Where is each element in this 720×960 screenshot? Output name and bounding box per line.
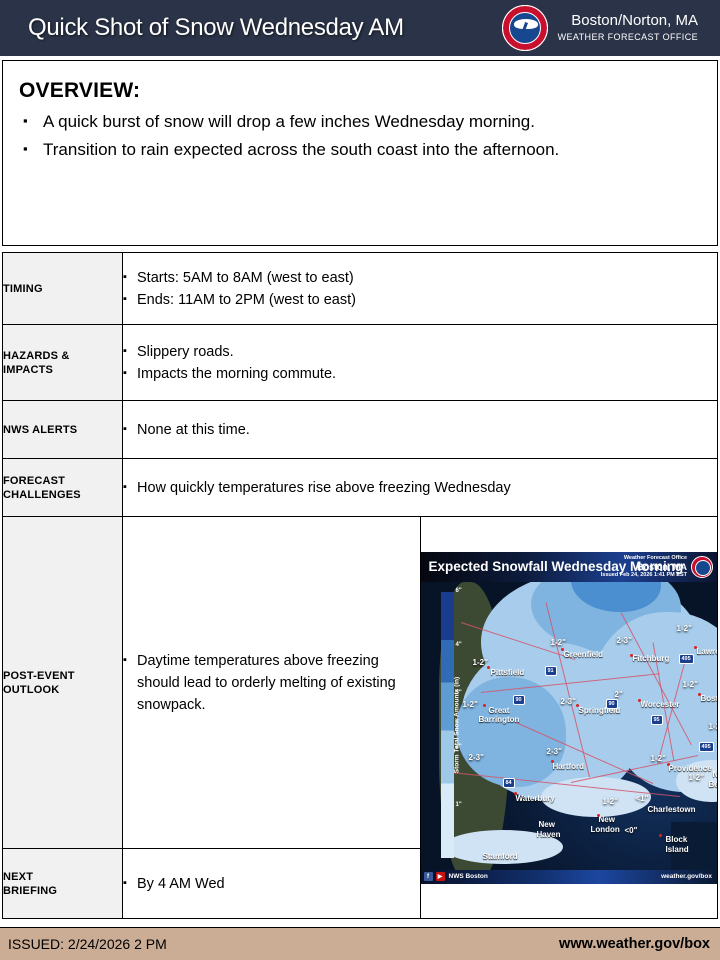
snow-amount-label: 1-2" — [463, 700, 478, 709]
map-roads — [421, 582, 718, 870]
row-label-nws-alerts: NWS ALERTS — [3, 401, 123, 459]
snow-amount-label: 1-2" — [473, 658, 488, 667]
row-label-line1: FORECAST — [3, 474, 122, 488]
row-body-nws-alerts: None at this time. — [123, 401, 718, 459]
nws-logo-icon — [502, 5, 548, 51]
map-city-label: Stamford — [483, 852, 518, 861]
map-city-label: Haven — [537, 830, 561, 839]
list-item: Slippery roads. — [123, 341, 717, 363]
table-row: FORECAST CHALLENGES How quickly temperat… — [3, 459, 718, 517]
issued-timestamp: ISSUED: 2/24/2026 2 PM — [8, 936, 167, 952]
map-city-label: London — [591, 825, 620, 834]
list-item: Starts: 5AM to 8AM (west to east) — [123, 267, 717, 289]
colorbar-tick: 2" — [456, 744, 462, 750]
office-name: Boston/Norton, MA — [558, 12, 698, 30]
highway-shield-icon: 90 — [513, 695, 525, 705]
highway-shield-icon: 90 — [606, 699, 618, 709]
row-label-forecast-challenges: FORECAST CHALLENGES — [3, 459, 123, 517]
highway-shield-icon: 495 — [699, 742, 714, 752]
colorbar-tick: 6" — [456, 588, 462, 594]
map-banner: Expected Snowfall Wednesday Morning Weat… — [421, 552, 718, 582]
header-office-block: Boston/Norton, MA WEATHER FORECAST OFFIC… — [502, 0, 712, 56]
list-item: Transition to rain expected across the s… — [19, 137, 701, 163]
snow-amount-label: 1-2" — [603, 797, 618, 806]
snow-amount-label: 2-3" — [547, 747, 562, 756]
map-city-label: Barrington — [479, 715, 520, 724]
highway-shield-icon: 91 — [545, 666, 557, 676]
row-label-line2: CHALLENGES — [3, 488, 122, 502]
office-subtitle: WEATHER FORECAST OFFICE — [558, 30, 698, 44]
colorbar-tick: 1" — [456, 802, 462, 808]
map-city-label: Block — [666, 835, 688, 844]
row-body-post-event-outlook: Daytime temperatures above freezing shou… — [123, 517, 421, 849]
row-body-next-briefing: By 4 AM Wed — [123, 849, 421, 919]
map-city-label: Pittsfield — [491, 668, 525, 677]
row-label-line2: OUTLOOK — [3, 683, 122, 697]
table-row: HAZARDS & IMPACTS Slippery roads. Impact… — [3, 325, 718, 401]
row-label-line2: BRIEFING — [3, 884, 122, 898]
snow-amount-label: 2-3" — [617, 636, 632, 645]
map-city-label: Greenfield — [564, 650, 604, 659]
map-city-label: Great — [489, 706, 510, 715]
list-item: A quick burst of snow will drop a few in… — [19, 109, 701, 135]
snow-amount-label: 1-2" — [677, 624, 692, 633]
list-item: By 4 AM Wed — [123, 873, 420, 895]
snow-amount-label: 1-2" — [683, 680, 698, 689]
map-issued-line: Issued Feb 24, 2026 1:41 PM EST — [601, 572, 687, 579]
highway-shield-icon: 495 — [679, 654, 694, 664]
snow-amount-label: 1-2" — [551, 638, 566, 647]
snow-amount-label: <1" — [636, 794, 649, 803]
map-city-line: Boston, MA — [601, 562, 687, 572]
list-item: None at this time. — [123, 419, 717, 441]
list-item: How quickly temperatures rise above free… — [123, 477, 717, 499]
highway-shield-icon: 84 — [503, 778, 515, 788]
map-colorbar: Storm Total Snow Amounts (in) 6" 4" 3" 2… — [427, 586, 463, 864]
overview-title: OVERVIEW: — [19, 79, 701, 103]
briefing-page: Quick Shot of Snow Wednesday AM Boston/N… — [0, 0, 720, 960]
snow-amount-label: 2" — [615, 690, 623, 699]
map-banner-office: Weather Forecast Office Boston, MA Issue… — [601, 552, 713, 582]
overview-panel: OVERVIEW: A quick burst of snow will dro… — [2, 60, 718, 246]
map-city-label: New — [713, 770, 718, 779]
map-city-label: Providence — [669, 764, 712, 773]
table-row: TIMING Starts: 5AM to 8AM (west to east)… — [3, 253, 718, 325]
row-label-timing: TIMING — [3, 253, 123, 325]
list-item: Daytime temperatures above freezing shou… — [123, 650, 420, 716]
youtube-icon[interactable]: ▶ — [436, 872, 445, 881]
row-label-hazards-impacts: HAZARDS & IMPACTS — [3, 325, 123, 401]
page-footer: ISSUED: 2/24/2026 2 PM www.weather.gov/b… — [0, 927, 720, 960]
map-city-label: Lawrence — [697, 647, 718, 656]
map-city-label: Charlestown — [648, 805, 696, 814]
overview-bullet-list: A quick burst of snow will drop a few in… — [19, 109, 701, 163]
map-city-label: New — [539, 820, 555, 829]
colorbar-tick: 3" — [456, 690, 462, 696]
map-footer-label: NWS Boston — [449, 873, 488, 880]
row-body-timing: Starts: 5AM to 8AM (west to east) Ends: … — [123, 253, 718, 325]
table-row: POST-EVENT OUTLOOK Daytime temperatures … — [3, 517, 718, 849]
map-city-label: Island — [666, 845, 689, 854]
colorbar-gradient — [441, 592, 454, 858]
snow-amount-label: 2-3" — [561, 697, 576, 706]
facebook-icon[interactable]: f — [424, 872, 433, 881]
snowfall-map-cell: Expected Snowfall Wednesday Morning Weat… — [420, 517, 718, 919]
list-item: Impacts the morning commute. — [123, 363, 717, 385]
row-label-line1: NEXT — [3, 870, 122, 884]
map-nws-logo-icon — [691, 556, 713, 578]
row-body-forecast-challenges: How quickly temperatures rise above free… — [123, 459, 718, 517]
table-row: NWS ALERTS None at this time. — [3, 401, 718, 459]
snow-amount-label: 1-2" — [651, 754, 666, 763]
map-footer: f ▶ NWS Boston weather.gov/box — [421, 870, 718, 884]
map-city-label: Boston — [701, 694, 718, 703]
snowfall-map: Expected Snowfall Wednesday Morning Weat… — [421, 552, 718, 884]
map-city-label: Hartford — [553, 762, 585, 771]
map-city-label: New — [599, 815, 615, 824]
row-label-next-briefing: NEXT BRIEFING — [3, 849, 123, 919]
map-footer-url: weather.gov/box — [661, 873, 712, 880]
page-header: Quick Shot of Snow Wednesday AM Boston/N… — [0, 0, 720, 56]
snow-amount-label: 1-2" — [689, 773, 704, 782]
briefing-table: TIMING Starts: 5AM to 8AM (west to east)… — [2, 252, 718, 919]
row-body-hazards-impacts: Slippery roads. Impacts the morning comm… — [123, 325, 718, 401]
snow-amount-label: 1-2" — [709, 722, 718, 731]
colorbar-tick: 4" — [456, 642, 462, 648]
snow-amount-label: 2-3" — [469, 753, 484, 762]
row-label-line1: HAZARDS & — [3, 349, 122, 363]
list-item: Ends: 11AM to 2PM (west to east) — [123, 289, 717, 311]
highway-shield-icon: 95 — [651, 715, 663, 725]
snow-amount-label: <0" — [625, 826, 638, 835]
row-label-post-event-outlook: POST-EVENT OUTLOOK — [3, 517, 123, 849]
map-city-label: Waterbury — [516, 794, 555, 803]
map-city-label: Fitchburg — [633, 654, 670, 663]
map-city-label: Bedford — [709, 780, 718, 789]
map-office-line: Weather Forecast Office — [601, 555, 687, 562]
row-label-line1: POST-EVENT — [3, 669, 122, 683]
map-city-label: Worcester — [641, 700, 680, 709]
map-canvas: Storm Total Snow Amounts (in) 6" 4" 3" 2… — [421, 582, 718, 870]
page-title: Quick Shot of Snow Wednesday AM — [28, 14, 404, 42]
row-label-line2: IMPACTS — [3, 363, 122, 377]
footer-website-url: www.weather.gov/box — [559, 936, 710, 952]
